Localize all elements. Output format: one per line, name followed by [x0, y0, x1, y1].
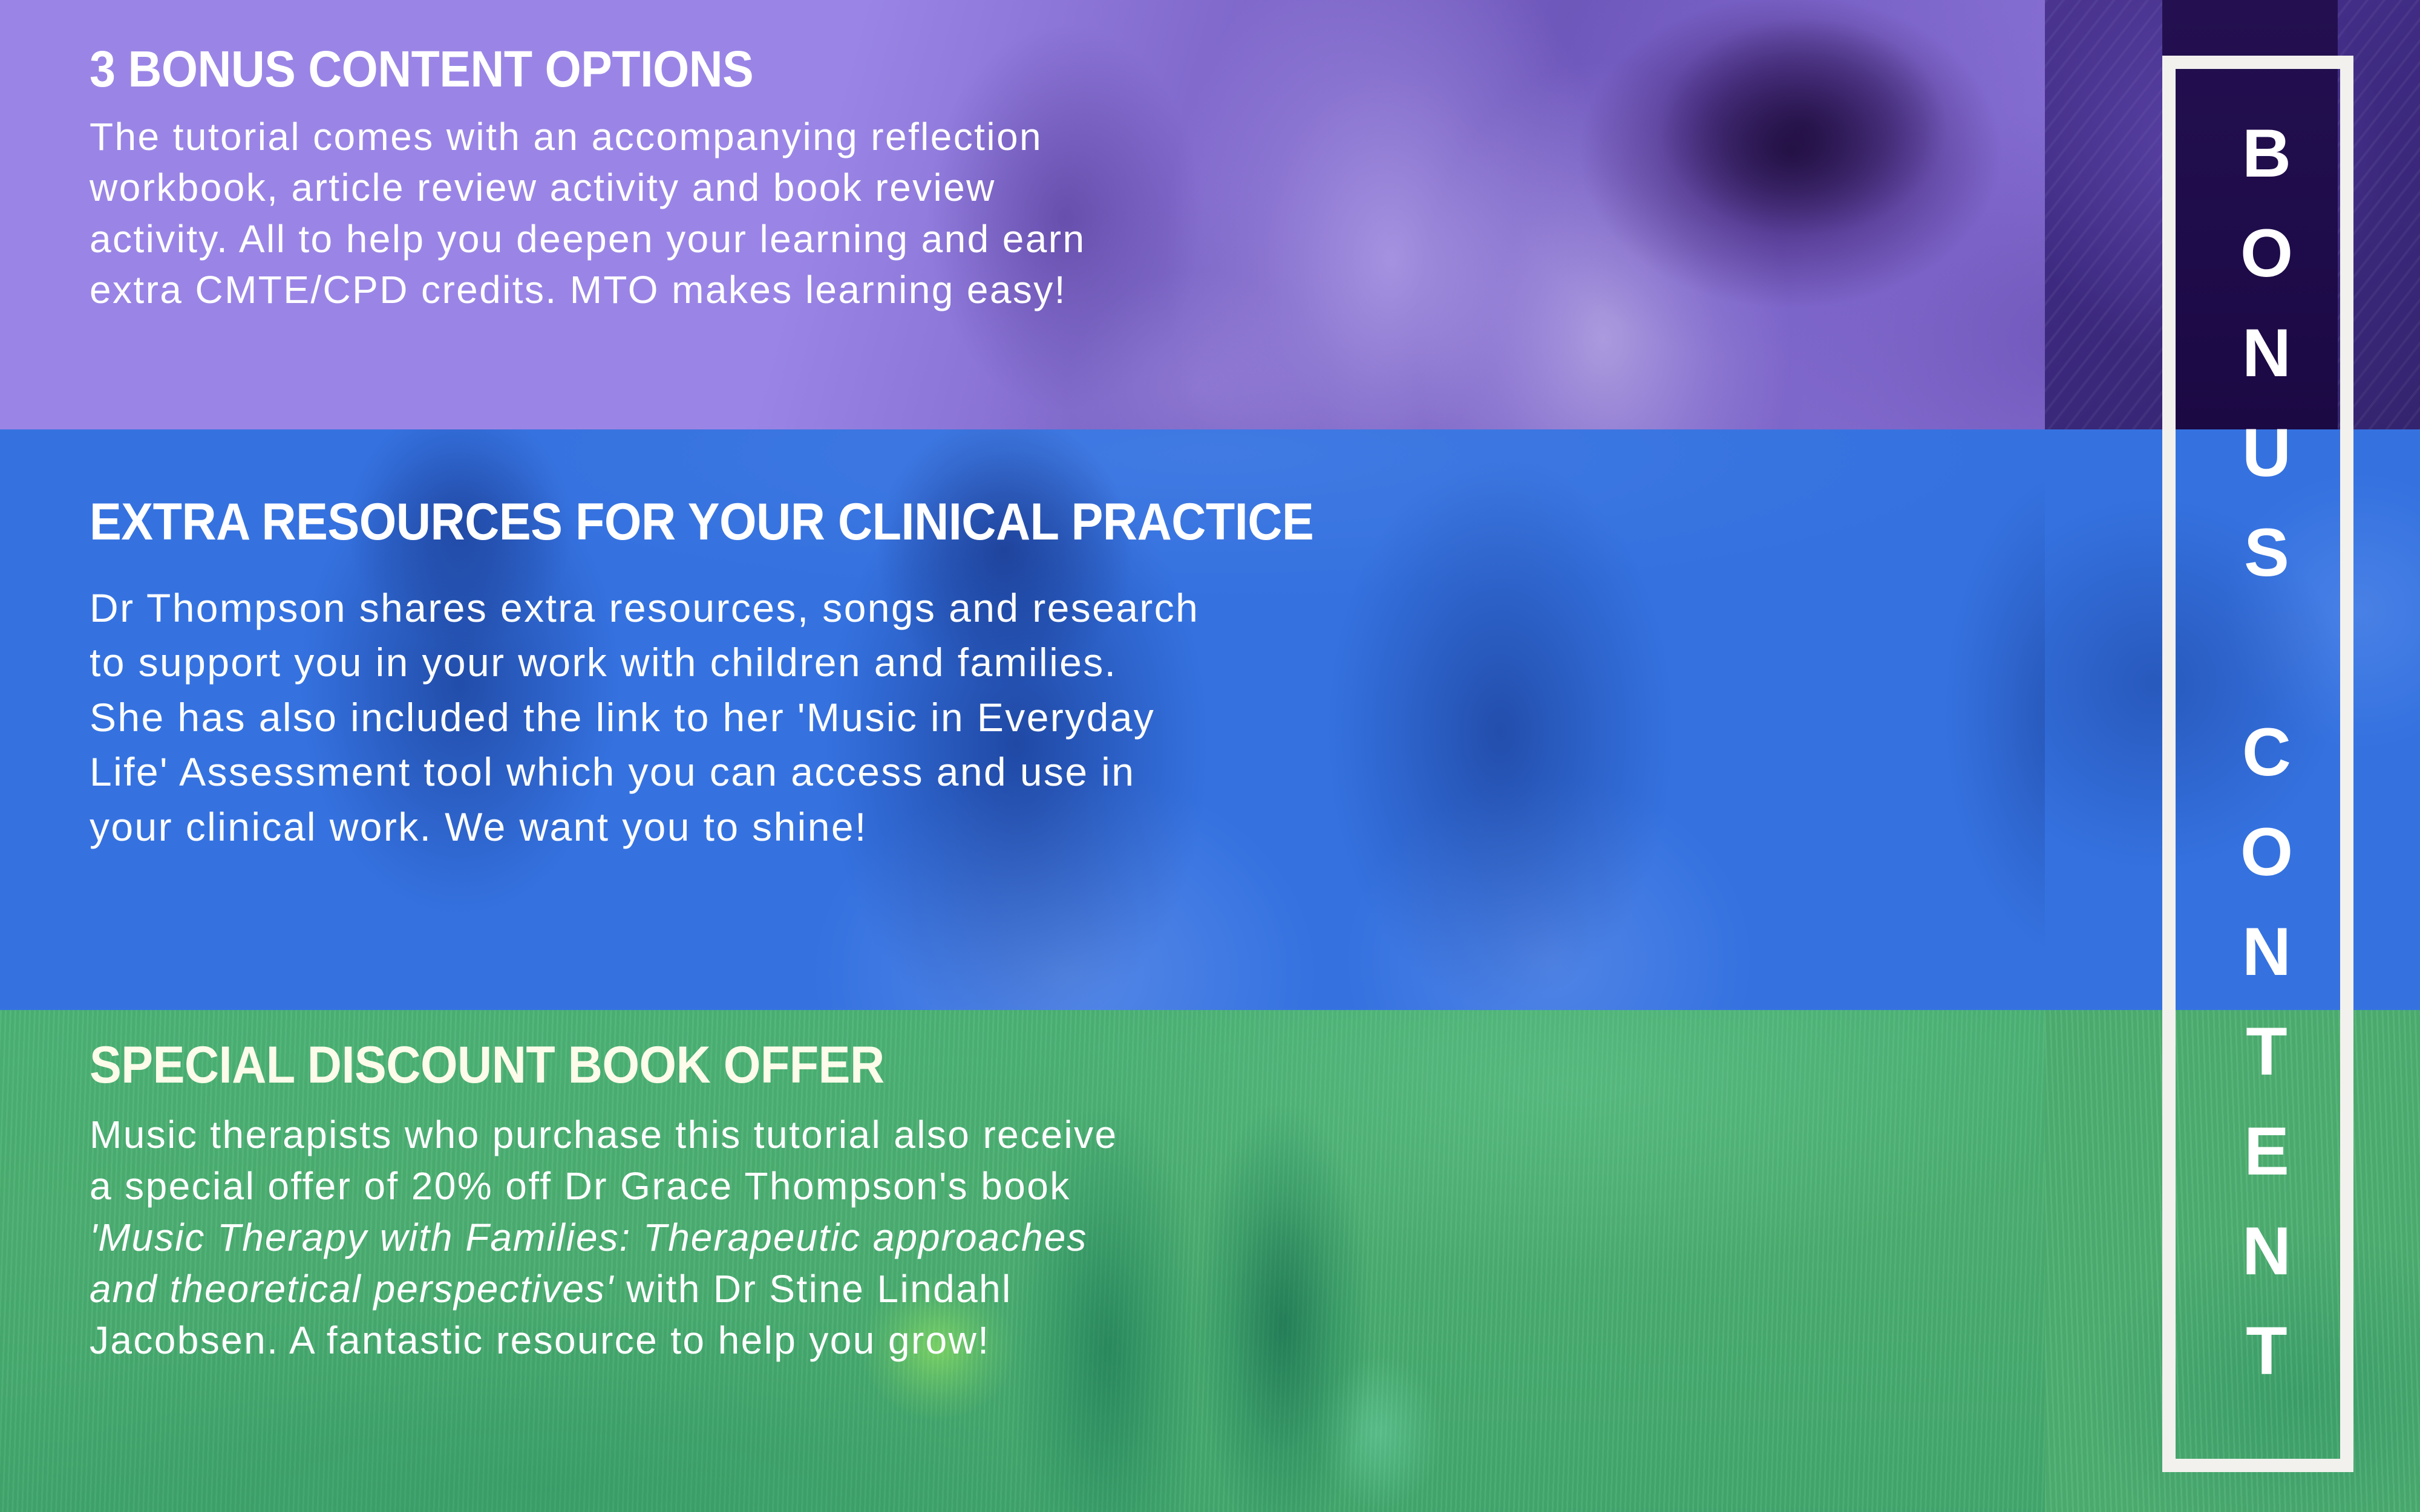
extra-resources-body: Dr Thompson shares extra resources, song…: [90, 581, 2013, 854]
book-offer-body-part-1: Music therapists who purchase this tutor…: [90, 1113, 1118, 1208]
bonus-content-poster: 3 BONUS CONTENT OPTIONS The tutorial com…: [0, 0, 2420, 1512]
side-panel-vertical-label: BONUS CONTENT: [2232, 116, 2300, 1413]
bonus-content-options-heading: 3 BONUS CONTENT OPTIONS: [90, 44, 1860, 94]
bonus-content-side-panel: BONUS CONTENT: [2045, 0, 2420, 1512]
special-discount-book-offer-body: Music therapists who purchase this tutor…: [90, 1109, 2013, 1367]
bonus-content-options-body: The tutorial comes with an accompanying …: [90, 111, 2013, 316]
side-panel-frame: BONUS CONTENT: [2162, 56, 2353, 1472]
special-discount-book-offer-heading: SPECIAL DISCOUNT BOOK OFFER: [90, 1039, 1860, 1091]
special-discount-book-offer-text: SPECIAL DISCOUNT BOOK OFFER Music therap…: [90, 1039, 2013, 1367]
bonus-content-options-text: 3 BONUS CONTENT OPTIONS The tutorial com…: [90, 44, 2013, 316]
extra-resources-text: EXTRA RESOURCES FOR YOUR CLINICAL PRACTI…: [90, 496, 2013, 854]
extra-resources-heading: EXTRA RESOURCES FOR YOUR CLINICAL PRACTI…: [90, 496, 1860, 548]
